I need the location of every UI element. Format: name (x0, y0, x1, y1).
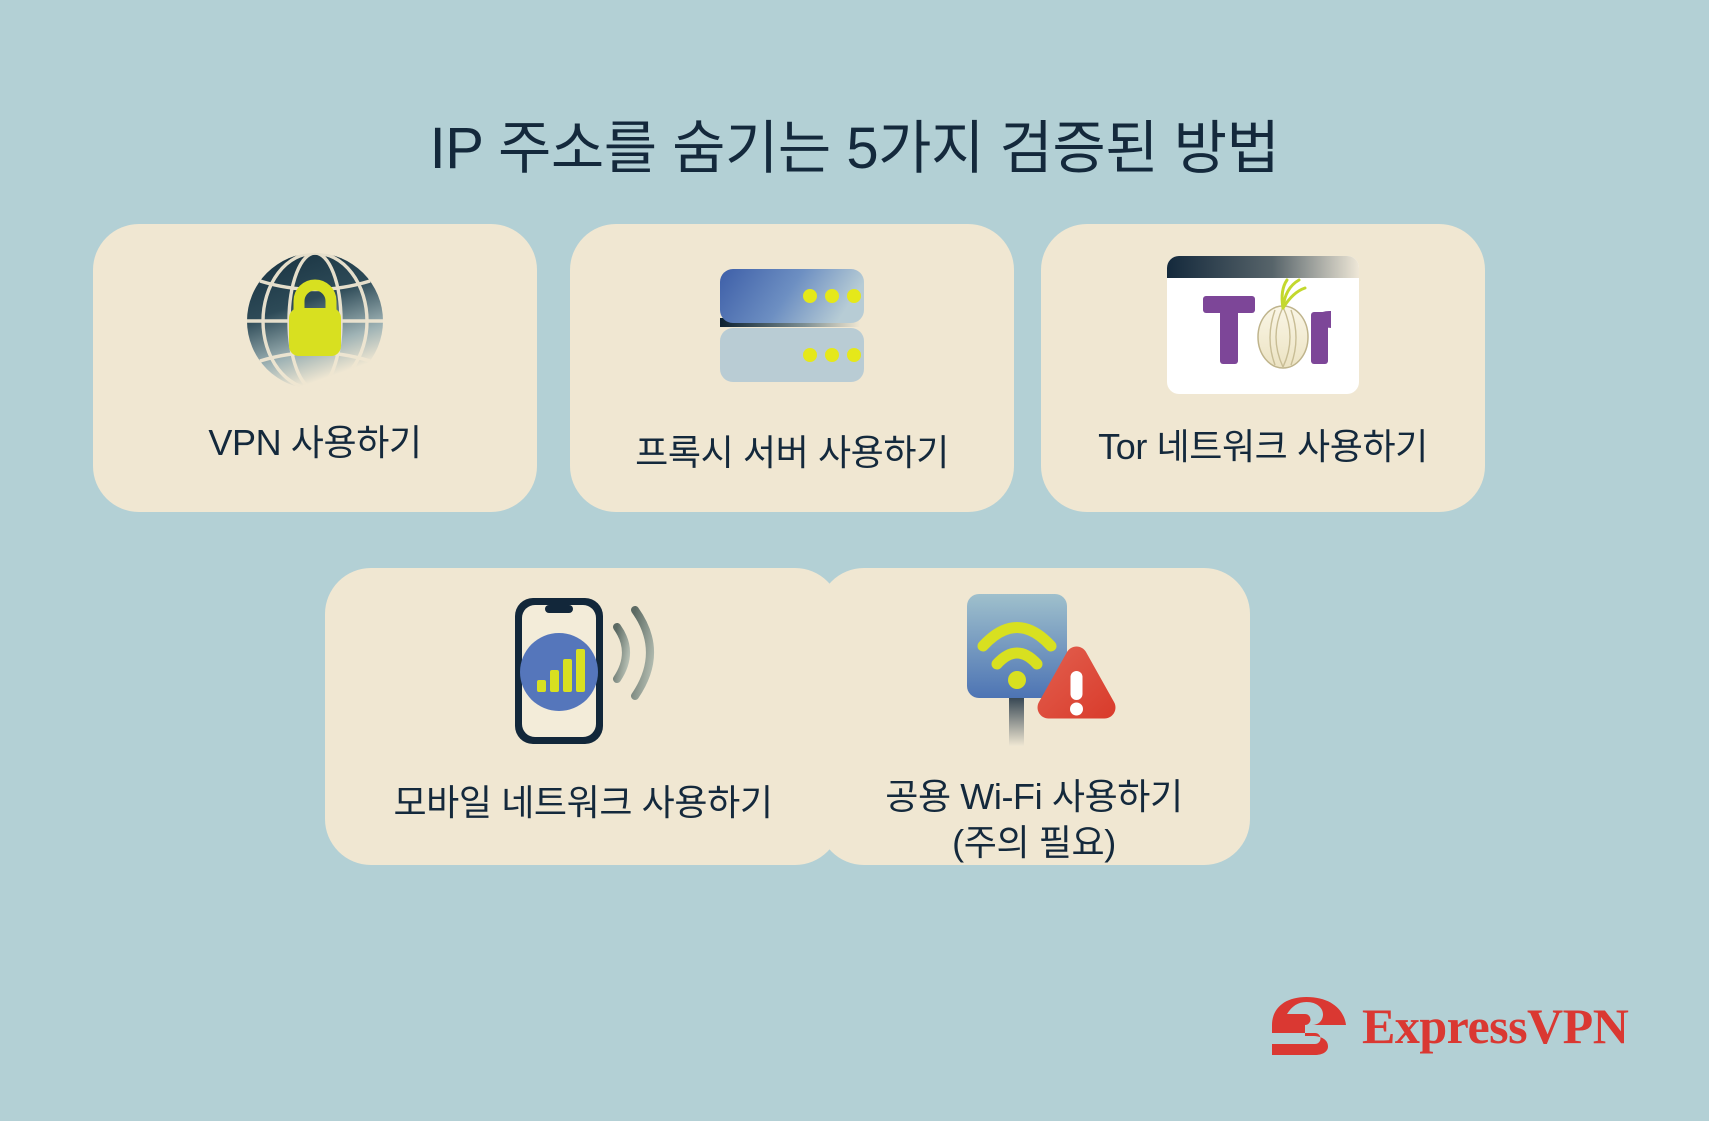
card-label: 공용 Wi-Fi 사용하기 (주의 필요) (885, 774, 1182, 866)
method-card-mobile-network[interactable]: 모바일 네트워크 사용하기 (325, 568, 841, 865)
globe-lock-icon (230, 246, 400, 396)
method-card-public-wifi[interactable]: 공용 Wi-Fi 사용하기 (주의 필요) (818, 568, 1250, 865)
expressvpn-logo[interactable]: ExpressVPN (1270, 995, 1628, 1057)
method-card-grid: VPN 사용하기 (0, 0, 1709, 1121)
card-label: VPN 사용하기 (208, 420, 421, 466)
tor-browser-icon (1165, 254, 1361, 396)
method-card-tor-network[interactable]: Tor 네트워크 사용하기 (1041, 224, 1485, 512)
expressvpn-wordmark: ExpressVPN (1362, 1001, 1628, 1051)
card-label: 모바일 네트워크 사용하기 (393, 780, 772, 826)
card-label: 프록시 서버 사용하기 (635, 430, 949, 476)
public-wifi-warning-icon (949, 588, 1119, 750)
smartphone-signal-icon (493, 590, 673, 750)
radio-waves (617, 610, 650, 696)
expressvpn-mark-icon (1270, 995, 1346, 1057)
server-stack-icon (712, 266, 872, 394)
card-label: Tor 네트워크 사용하기 (1098, 424, 1428, 470)
method-card-vpn[interactable]: VPN 사용하기 (93, 224, 537, 512)
method-card-proxy-server[interactable]: 프록시 서버 사용하기 (570, 224, 1014, 512)
